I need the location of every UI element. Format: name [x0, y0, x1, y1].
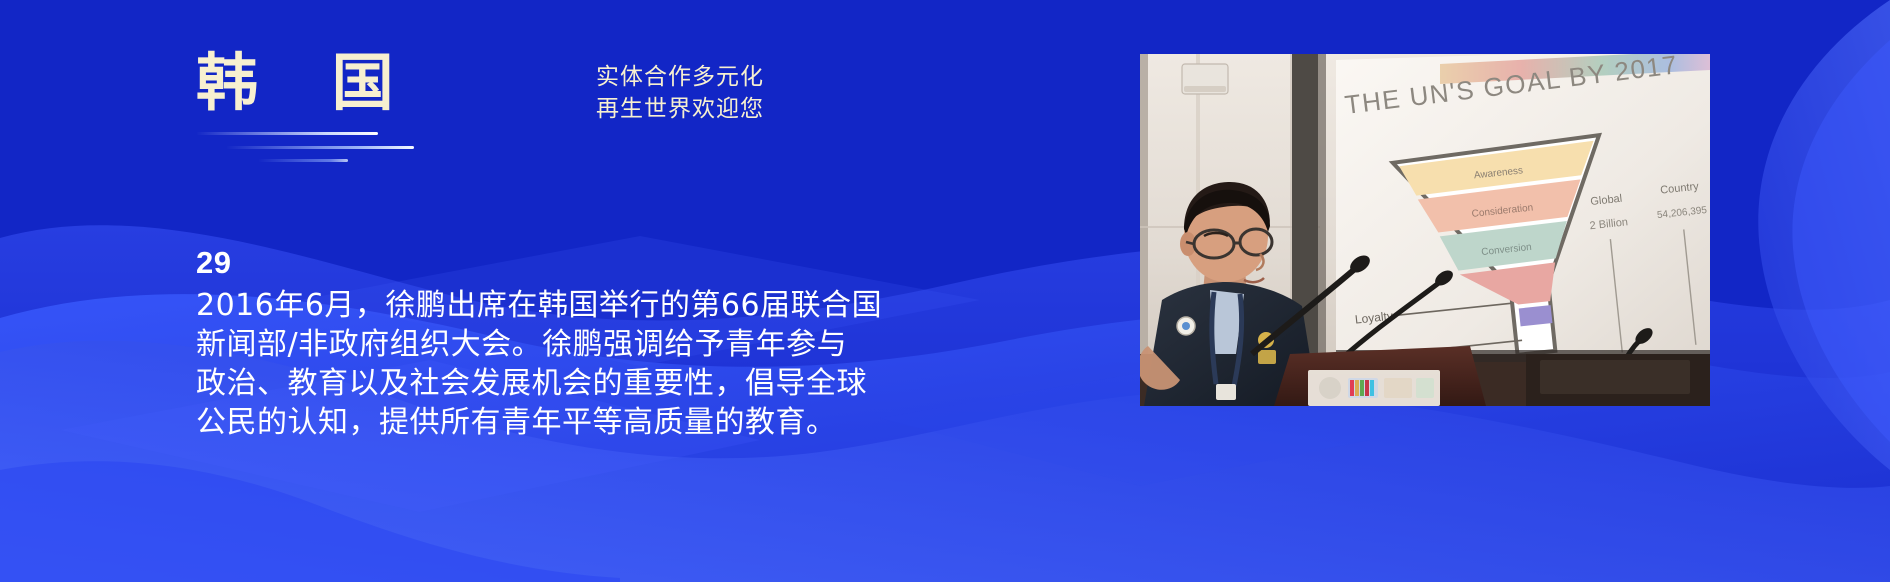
title-underline-decoration [196, 126, 426, 158]
paragraph-line-2: 新闻部/非政府组织大会。徐鹏强调给予青年参与 [196, 325, 1026, 364]
subtitle-line-2: 再生世界欢迎您 [596, 94, 764, 126]
subtitle-line-1: 实体合作多元化 [596, 62, 764, 94]
slide-title: 韩 国 [196, 52, 426, 114]
slide-subtitle: 实体合作多元化 再生世界欢迎您 [596, 62, 764, 125]
item-number: 29 [196, 246, 1026, 280]
title-rule-secondary [226, 146, 414, 149]
wall-vent [1182, 64, 1228, 94]
body-block: 29 2016年6月，徐鹏出席在韩国举行的第66届联合国 新闻部/非政府组织大会… [196, 246, 1026, 442]
conference-photo: THE UN'S GOAL BY 2017 Awareness Con [1140, 54, 1710, 406]
conference-photo-image: THE UN'S GOAL BY 2017 Awareness Con [1140, 54, 1710, 406]
body-paragraph: 2016年6月，徐鹏出席在韩国举行的第66届联合国 新闻部/非政府组织大会。徐鹏… [196, 286, 1026, 442]
title-block: 韩 国 [196, 52, 426, 158]
paragraph-line-1: 2016年6月，徐鹏出席在韩国举行的第66届联合国 [196, 286, 1026, 325]
podium [1274, 346, 1486, 406]
left-content-column: 韩 国 实体合作多元化 再生世界欢迎您 29 2016年6月，徐鹏出席在韩国举行… [0, 0, 1100, 582]
title-rule-tertiary [258, 159, 348, 162]
presentation-slide: 韩 国 实体合作多元化 再生世界欢迎您 29 2016年6月，徐鹏出席在韩国举行… [0, 0, 1890, 582]
paragraph-line-3: 政治、教育以及社会发展机会的重要性，倡导全球 [196, 364, 1026, 403]
paragraph-line-4: 公民的认知，提供所有青年平等高质量的教育。 [196, 403, 1026, 442]
title-rule-primary [196, 132, 378, 135]
